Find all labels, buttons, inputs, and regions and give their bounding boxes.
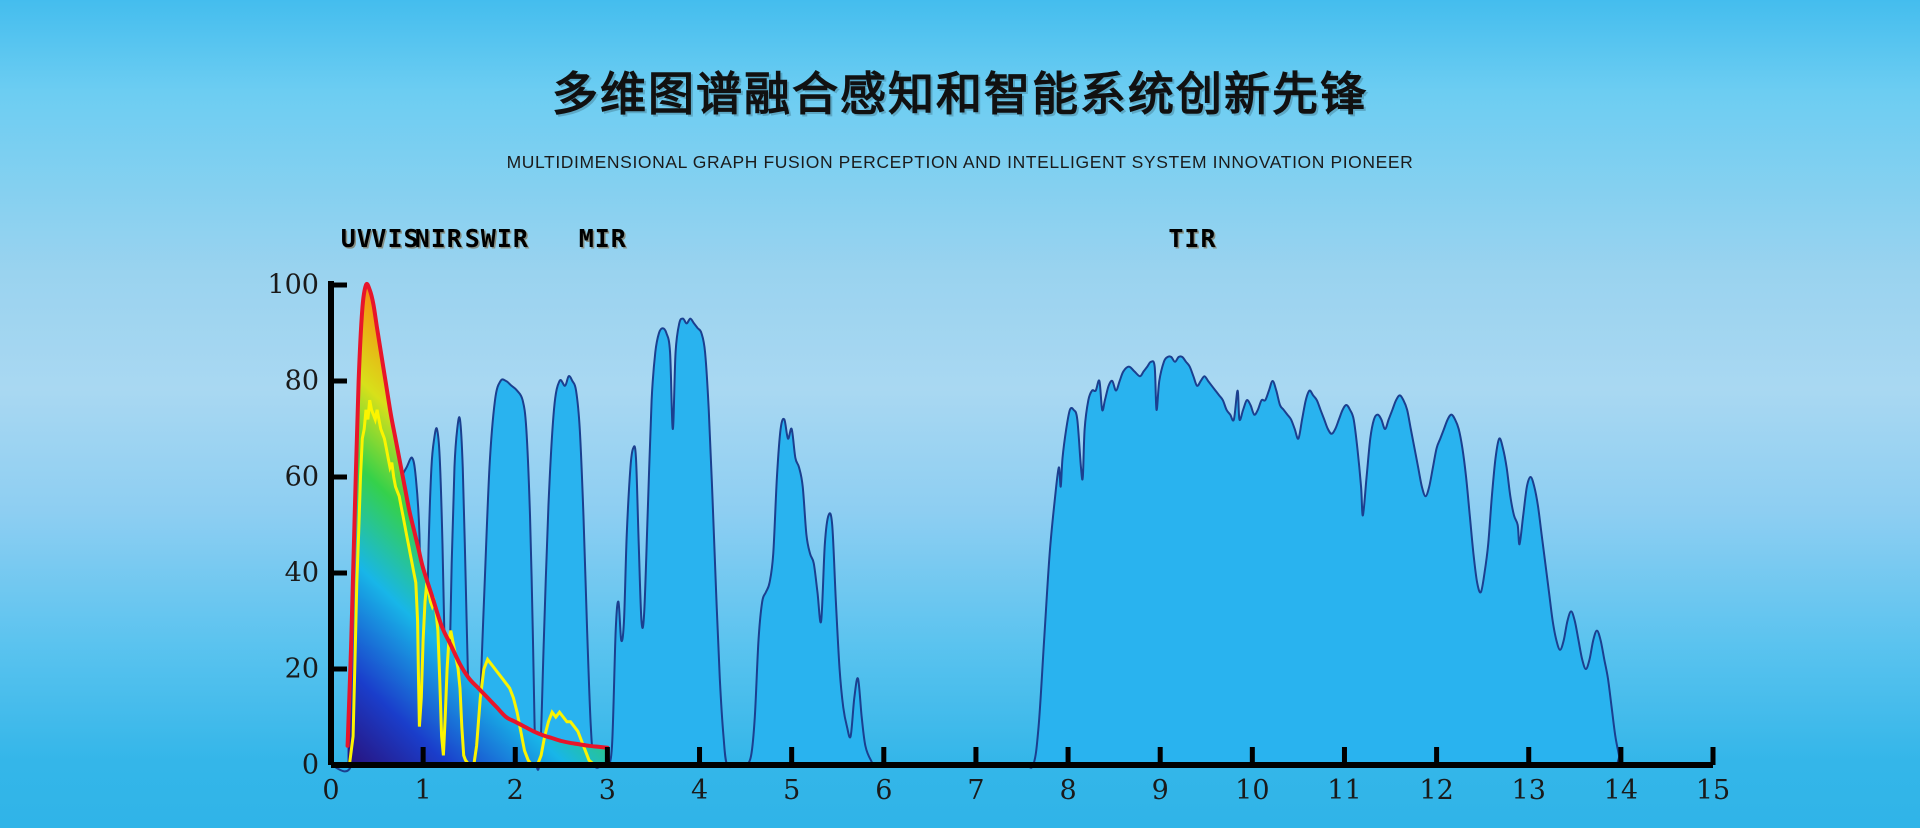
y-tick-label: 60: [249, 462, 319, 493]
x-tick-label: 13: [1499, 775, 1559, 806]
x-tick-label: 1: [393, 775, 453, 806]
x-tick-label: 9: [1130, 775, 1190, 806]
x-tick-label: 6: [854, 775, 914, 806]
x-tick-label: 8: [1038, 775, 1098, 806]
x-tick-label: 5: [762, 775, 822, 806]
spectrum-chart: [0, 0, 1920, 828]
y-tick-label: 40: [249, 558, 319, 589]
y-tick-label: 80: [249, 366, 319, 397]
x-tick-label: 15: [1683, 775, 1743, 806]
x-tick-label: 3: [577, 775, 637, 806]
x-tick-label: 10: [1222, 775, 1282, 806]
x-tick-label: 4: [670, 775, 730, 806]
chart-series-layer: [331, 284, 1713, 771]
x-tick-label: 2: [485, 775, 545, 806]
x-tick-label: 0: [301, 775, 361, 806]
poster-canvas: 多维图谱融合感知和智能系统创新先锋 MULTIDIMENSIONAL GRAPH…: [0, 0, 1920, 828]
y-tick-label: 20: [249, 654, 319, 685]
x-tick-label: 7: [946, 775, 1006, 806]
x-tick-label: 14: [1591, 775, 1651, 806]
atmospheric-transmission-area: [331, 319, 1713, 772]
x-tick-label: 11: [1314, 775, 1374, 806]
x-tick-label: 12: [1407, 775, 1467, 806]
y-tick-label: 100: [249, 270, 319, 301]
